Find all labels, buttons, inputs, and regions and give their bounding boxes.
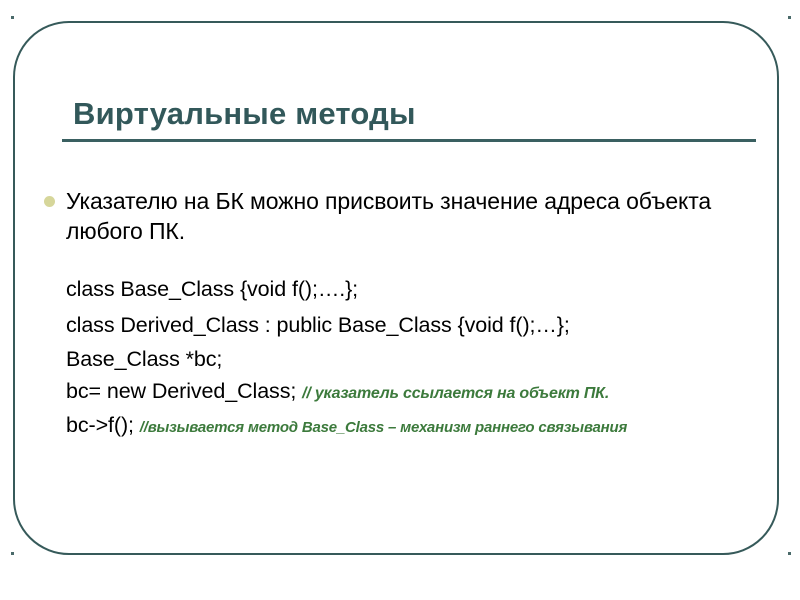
corner-mark-bottom-left bbox=[11, 552, 14, 555]
code-line-3: Base_Class *bc; bbox=[66, 343, 760, 376]
bullet-list-item: Указателю на БК можно присвоить значение… bbox=[44, 186, 760, 246]
code-line-5: bc->f(); //вызывается метод Base_Class –… bbox=[66, 409, 760, 444]
code-line-4: bc= new Derived_Class; // указатель ссыл… bbox=[66, 376, 760, 409]
bullet-dot-icon bbox=[44, 196, 55, 207]
corner-mark-top-right bbox=[788, 16, 791, 19]
code-line-4-comment: // указатель ссылается на объект ПК. bbox=[302, 385, 609, 402]
corner-mark-bottom-right bbox=[788, 552, 791, 555]
code-line-2: class Derived_Class : public Base_Class … bbox=[66, 307, 760, 343]
slide: Виртуальные методы Указателю на БК можно… bbox=[0, 0, 800, 600]
code-block: class Base_Class {void f();….}; class De… bbox=[44, 271, 760, 444]
title-block: Виртуальные методы bbox=[62, 98, 756, 142]
bullet-item-text: Указателю на БК можно присвоить значение… bbox=[66, 186, 760, 246]
code-line-5-comment: //вызывается метод Base_Class – механизм… bbox=[140, 419, 627, 436]
code-line-5-statement: bc->f(); bbox=[66, 413, 140, 437]
code-line-4-statement: bc= new Derived_Class; bbox=[66, 379, 302, 403]
corner-mark-top-left bbox=[11, 16, 14, 19]
code-line-1: class Base_Class {void f();….}; bbox=[66, 271, 760, 307]
page-title: Виртуальные методы bbox=[62, 98, 756, 129]
slide-content: Указателю на БК можно присвоить значение… bbox=[44, 186, 760, 444]
title-underline-rule bbox=[62, 139, 756, 142]
